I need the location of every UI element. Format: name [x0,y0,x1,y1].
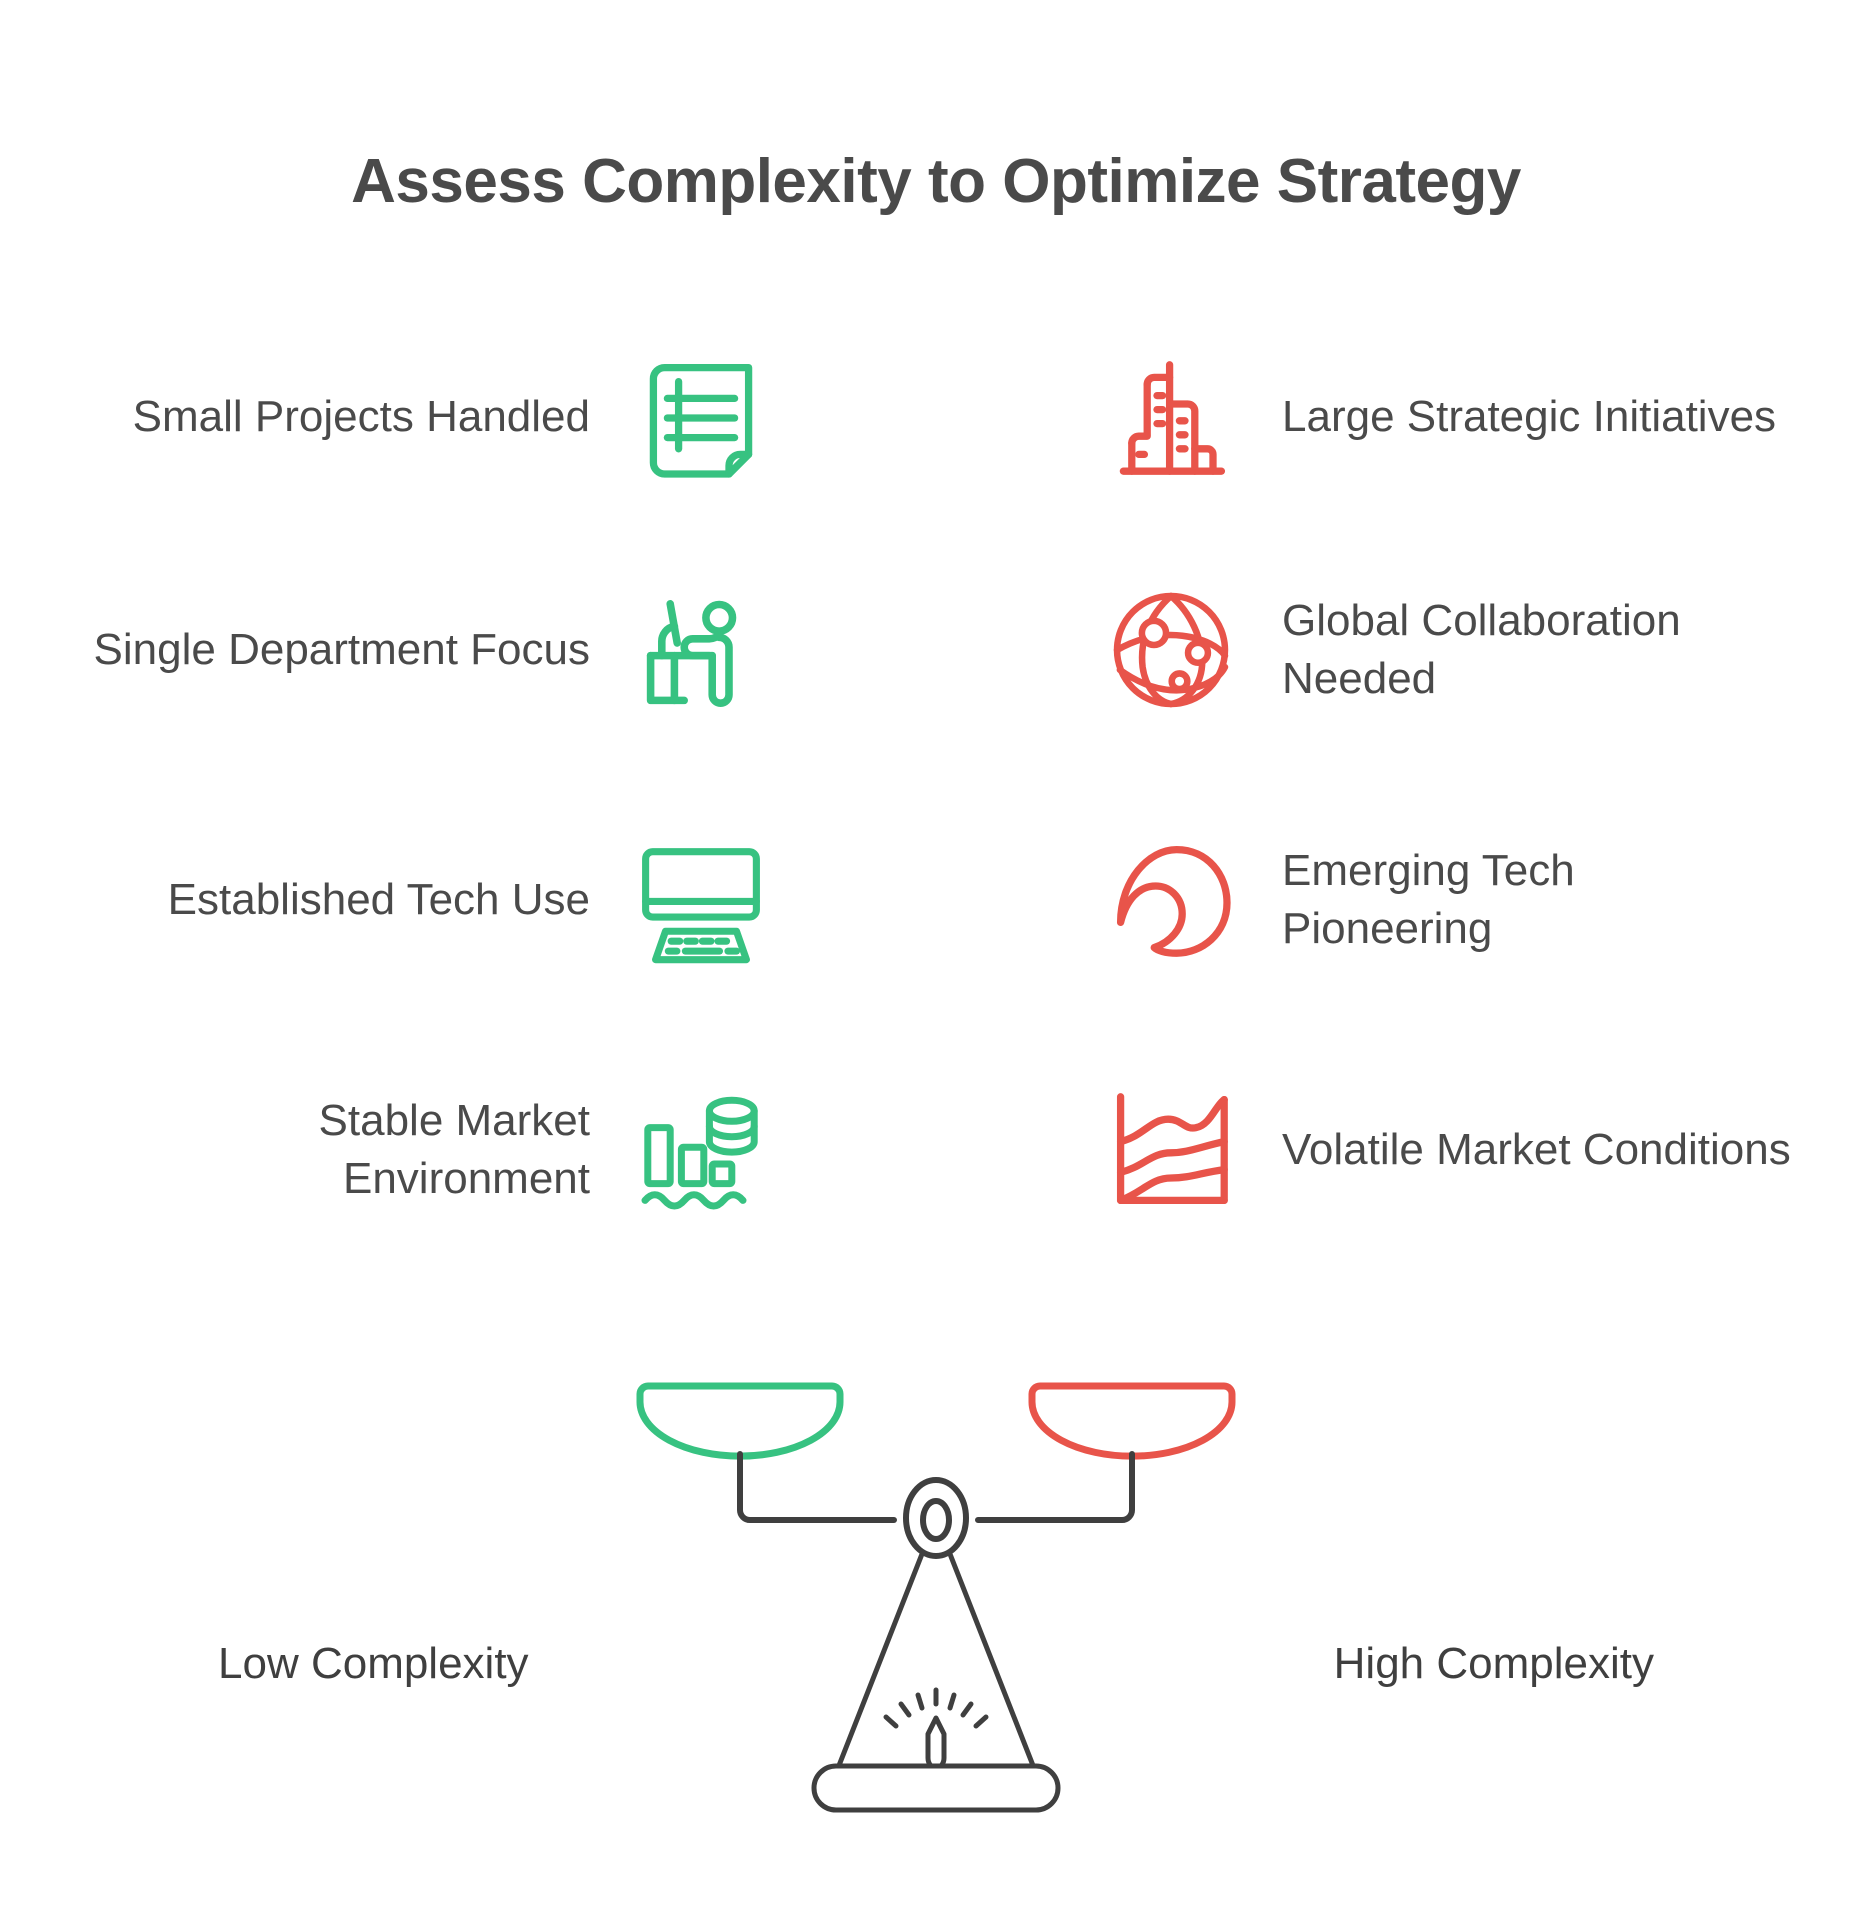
scale-base [814,1766,1058,1810]
comparison-rows: Small Projects Handled [0,310,1872,1275]
comparison-row: Single Department Focus [0,525,1872,775]
row-left-label: Established Tech Use [168,871,626,929]
notepad-document-icon [626,343,776,493]
row-left-label: Single Department Focus [94,621,626,679]
scale-stand [838,1554,1034,1768]
scale-left-pan [640,1386,840,1456]
infographic-canvas: Assess Complexity to Optimize Strategy S… [0,0,1872,1926]
spiral-wave-icon [1096,825,1246,975]
comparison-row: Established Tech Use [0,775,1872,1025]
comparison-row: Small Projects Handled [0,310,1872,525]
row-right-side: Volatile Market Conditions [1096,1075,1796,1225]
row-right-label: Large Strategic Initiatives [1246,388,1776,446]
scale-pivot [906,1480,966,1556]
high-complexity-label: High Complexity [1334,1638,1654,1691]
city-buildings-icon [1096,343,1246,493]
low-complexity-label: Low Complexity [218,1638,529,1691]
row-right-side: Global Collaboration Needed [1096,575,1796,725]
volatile-area-chart-icon [1096,1075,1246,1225]
row-left-side: Stable Market Environment [76,1075,776,1225]
row-right-side: Large Strategic Initiatives [1096,343,1796,493]
row-right-label: Volatile Market Conditions [1246,1121,1791,1179]
page-title: Assess Complexity to Optimize Strategy [0,148,1872,216]
scale-needle [886,1690,986,1768]
row-left-label: Stable Market Environment [76,1092,626,1208]
row-left-side: Single Department Focus [76,575,776,725]
globe-network-icon [1096,575,1246,725]
row-left-label: Small Projects Handled [133,388,626,446]
balance-scale [626,1368,1246,1828]
row-left-side: Established Tech Use [76,825,776,975]
person-at-desk-icon [626,575,776,725]
row-right-label: Global Collaboration Needed [1246,592,1796,708]
scale-right-pan [1032,1386,1232,1456]
row-right-label: Emerging Tech Pioneering [1246,842,1796,958]
row-left-side: Small Projects Handled [76,343,776,493]
bar-chart-coins-icon [626,1075,776,1225]
row-right-side: Emerging Tech Pioneering [1096,825,1796,975]
monitor-keyboard-icon [626,825,776,975]
comparison-row: Stable Market Environment [0,1025,1872,1275]
